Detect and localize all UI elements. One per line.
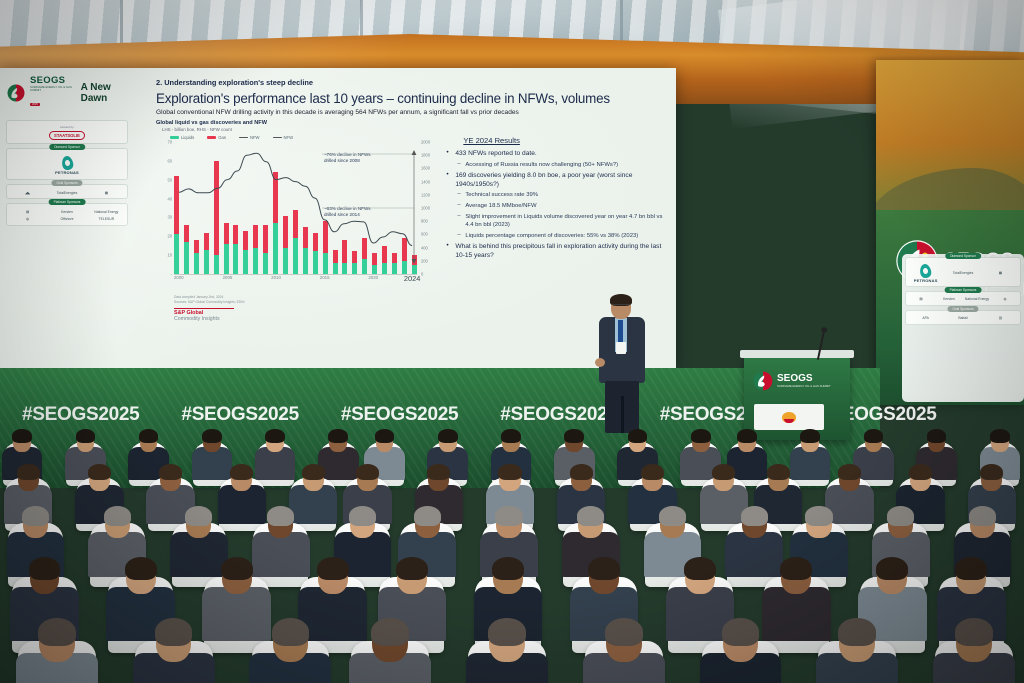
audience-hair <box>741 506 768 526</box>
audience-hair <box>88 464 111 480</box>
platinum-sponsor-label: Platinum Sponsors <box>49 199 86 205</box>
audience-hair <box>104 506 131 526</box>
audience-hair <box>780 557 812 580</box>
results-title: YE 2024 Results <box>463 136 672 145</box>
x-tick: 2024 <box>404 274 420 283</box>
audience-member <box>133 620 215 683</box>
y-tick-left: 60 <box>167 158 172 163</box>
audience-hair <box>712 464 735 480</box>
audience-hair <box>38 618 76 646</box>
audience-hair <box>267 506 294 526</box>
audience-hair <box>969 506 996 526</box>
audience-hair <box>221 557 253 580</box>
audience-hair <box>76 429 96 443</box>
audience-hair <box>909 464 932 480</box>
audience-member <box>933 620 1015 683</box>
chart-x-axis: 200020052010201520202024 <box>174 275 417 289</box>
audience-member <box>249 620 331 683</box>
gold-sponsor-box: Gold Sponsors ◢◣ TotalEnergies ▦ <box>6 184 128 200</box>
sp-global-brand: S&P Global Commodity Insights <box>174 308 234 322</box>
chart-footnote: Data compiled January 2nd, 2024 Sources:… <box>174 295 439 304</box>
audience-hair <box>29 557 61 580</box>
sponsor-logo-offshore: Offshore <box>48 218 85 222</box>
audience-hair <box>838 464 861 480</box>
audience-hair <box>488 618 526 646</box>
audience-member <box>816 620 898 683</box>
y-tick-right: 2000 <box>421 140 430 145</box>
y-tick-right: 1200 <box>421 192 430 197</box>
audience-hair <box>22 506 49 526</box>
audience-hair <box>498 464 521 480</box>
glasses-icon <box>612 304 630 309</box>
result-bullet: 433 NFWs reported to date. <box>445 150 672 159</box>
slide-kicker: 2. Understanding exploration's steep dec… <box>156 78 672 87</box>
sponsor-logo-baitali: Baitali <box>945 317 980 321</box>
event-tagline: A New Dawn <box>81 82 128 104</box>
chart-heading: Global liquid vs gas discoveries and NFW <box>156 120 672 126</box>
audience-hair <box>887 506 914 526</box>
audience-hair <box>722 618 760 646</box>
platinum-sponsor-box: Platinum Sponsors ▤ Kersten National Ene… <box>6 203 128 225</box>
audience-hair <box>202 429 222 443</box>
audience <box>0 400 1024 683</box>
sponsor-logo-telesur: TELESUR <box>88 218 125 222</box>
y-tick-right: 600 <box>421 232 428 237</box>
banner-sponsor-card: Diamond Sponsor PETRONAS TotalEnergies ▦… <box>902 254 1024 402</box>
y-tick-right: 1600 <box>421 166 430 171</box>
legend-item-gas: Gas <box>207 135 226 140</box>
audience-member <box>466 620 548 683</box>
y-tick-right: 1400 <box>421 179 430 184</box>
projection-screen: SEOGS SURINAME ENERGY OIL & GAS SUMMIT 2… <box>0 68 676 368</box>
sponsor-logo-g3: ▥ <box>983 317 1018 321</box>
sponsor-logo-plat-d: ◍ <box>9 218 46 222</box>
chart-column: Liquids Gas NFW NFW <box>156 132 439 322</box>
result-subbullets: Technical success rate 39%Average 18.5 M… <box>445 192 672 240</box>
audience-hair <box>767 464 790 480</box>
platinum-label: Platinum Sponsors <box>945 287 982 293</box>
diamond-sponsor-label: Diamond Sponsor <box>49 144 85 150</box>
audience-hair <box>570 464 593 480</box>
host-sponsor-box: Hosted by STAATSOLIE <box>6 120 128 144</box>
audience-hair <box>438 429 458 443</box>
audience-hair <box>492 557 524 580</box>
legend-swatch-gas <box>207 136 216 139</box>
audience-hair <box>495 506 522 526</box>
audience-hair <box>328 429 348 443</box>
sponsor-logo-gold-2: ▦ <box>983 272 1018 276</box>
audience-hair <box>265 429 285 443</box>
result-subbullet: Slight improvement in Liquids volume dis… <box>457 214 672 230</box>
chart-legend: Liquids Gas NFW NFW <box>170 135 439 140</box>
audience-member <box>16 620 98 683</box>
y-tick-right: 1000 <box>421 206 430 211</box>
audience-hair <box>805 506 832 526</box>
y-tick-left: 40 <box>167 196 172 201</box>
x-tick: 2005 <box>223 275 233 280</box>
sponsor-logo-kersten: Kersten <box>48 211 85 215</box>
result-subbullets: Accessing of Russia results now challeng… <box>445 162 672 170</box>
audience-hair <box>427 464 450 480</box>
audience-hair <box>628 429 648 443</box>
audience-member <box>583 620 665 683</box>
chart-plot: ~76% decline in NFWs drilled since 2008 … <box>174 142 417 275</box>
result-subbullet: Accessing of Russia results now challeng… <box>457 162 672 170</box>
x-tick: 2000 <box>174 275 184 280</box>
y-tick-right: 800 <box>421 219 428 224</box>
audience-hair <box>230 464 253 480</box>
audience-hair <box>588 557 620 580</box>
slide-sponsor-rail: SEOGS SURINAME ENERGY OIL & GAS SUMMIT 2… <box>6 76 128 352</box>
sponsor-logo-national-energy: National Energy <box>88 211 125 215</box>
podium-brand: SEOGS <box>777 374 831 384</box>
result-bullet: What is behind this precipitous fall in … <box>445 243 672 260</box>
sponsor-logo-petronas: PETRONAS <box>908 264 943 283</box>
results-bullets: 433 NFWs reported to date.Accessing of R… <box>445 150 672 261</box>
audience-hair <box>990 429 1010 443</box>
results-column: YE 2024 Results 433 NFWs reported to dat… <box>439 132 672 322</box>
audience-hair <box>980 464 1003 480</box>
audience-hair <box>125 557 157 580</box>
audience-hair <box>349 506 376 526</box>
sponsor-logo-p1: ▤ <box>908 298 934 302</box>
audience-member <box>700 620 782 683</box>
audience-hair <box>317 557 349 580</box>
y-tick-left: 50 <box>167 177 172 182</box>
chart-y-axis-right: 0200400600800100012001400160018002000 <box>419 142 439 274</box>
audience-hair <box>356 464 379 480</box>
podium-top <box>740 350 854 358</box>
y-tick-left: 30 <box>167 215 172 220</box>
chart-plot-area: -10203040506070 020040060080010001200140… <box>156 142 439 292</box>
gold-label: Gold Sponsors <box>947 306 978 312</box>
audience-hair <box>577 506 604 526</box>
audience-hair <box>864 429 884 443</box>
audience-hair <box>659 506 686 526</box>
result-subbullet: Liquids percentage component of discover… <box>457 233 672 241</box>
legend-item-nfw-2: NFW <box>273 135 294 140</box>
legend-item-nfw: NFW <box>239 135 260 140</box>
sponsor-logo-petronas: PETRONAS <box>9 156 125 175</box>
podium-subtitle: SURINAME ENERGY OIL & GAS SUMMIT <box>777 384 831 388</box>
chart-annotation-arrows <box>318 150 418 272</box>
slide-content: 2. Understanding exploration's steep dec… <box>134 76 672 362</box>
audience-hair <box>501 429 521 443</box>
sponsor-logo-natenergy: National Energy <box>964 298 990 302</box>
x-tick: 2010 <box>271 275 281 280</box>
sponsor-logo-p4: ◍ <box>992 298 1018 302</box>
seogs-edition: 2025 <box>30 103 40 106</box>
speaker-lanyard <box>618 320 623 344</box>
y-tick-right: 0 <box>421 272 423 277</box>
sponsor-logo-staatsolie: STAATSOLIE <box>49 131 85 140</box>
sponsor-logo-totalenergies: TotalEnergies <box>48 192 85 196</box>
hosted-by-caption: Hosted by <box>9 125 125 129</box>
seogs-subtitle: SURINAME ENERGY OIL & GAS SUMMIT <box>30 86 73 93</box>
audience-hair <box>838 618 876 646</box>
seogs-header: SEOGS SURINAME ENERGY OIL & GAS SUMMIT 2… <box>6 76 128 110</box>
audience-hair <box>737 429 757 443</box>
diamond-sponsor-box: Diamond Sponsor PETRONAS <box>6 148 128 179</box>
y-tick-left: 20 <box>167 234 172 239</box>
audience-hair <box>414 506 441 526</box>
legend-swatch-nfw-2 <box>273 137 282 138</box>
audience-hair <box>641 464 664 480</box>
audience-hair <box>684 557 716 580</box>
audience-hair <box>605 618 643 646</box>
seogs-logo-icon <box>6 83 26 103</box>
audience-hair <box>396 557 428 580</box>
sponsor-logo-gold-1: TotalEnergies <box>945 272 980 276</box>
audience-hair <box>800 429 820 443</box>
diamond-label: Diamond Sponsor <box>945 253 981 259</box>
audience-hair <box>564 429 584 443</box>
sponsor-logo-kersten: Kersten <box>936 298 962 302</box>
result-bullet: 169 discoveries yielding 8.0 bn boe, a p… <box>445 172 672 189</box>
y-tick-left: - <box>171 272 172 277</box>
audience-hair <box>185 506 212 526</box>
audience-hair <box>691 429 711 443</box>
sponsor-logo-gold-c: ▦ <box>88 192 125 196</box>
audience-hair <box>159 464 182 480</box>
audience-hair <box>955 618 993 646</box>
audience-hair <box>272 618 310 646</box>
petronas-drop-icon <box>60 155 73 171</box>
petronas-drop-icon <box>919 263 932 279</box>
audience-member <box>349 620 431 683</box>
conference-photo: SEOGS 17-20 JUNE 2025 Paramaribo, Surina… <box>0 0 1024 683</box>
audience-hair <box>371 618 409 646</box>
result-subbullet: Technical success rate 39% <box>457 192 672 200</box>
y-tick-right: 1800 <box>421 153 430 158</box>
podium-logo: SEOGS SURINAME ENERGY OIL & GAS SUMMIT <box>752 370 831 392</box>
audience-hair <box>955 557 987 580</box>
slide-subtitle: Global conventional NFW drilling activit… <box>156 109 672 116</box>
chart-y-axis-left: -10203040506070 <box>156 142 172 274</box>
audience-hair <box>302 464 325 480</box>
y-tick-left: 70 <box>167 140 172 145</box>
speaker-hand <box>595 358 605 367</box>
audience-hair <box>927 429 947 443</box>
sponsor-logo-plat-a: ▤ <box>9 211 46 215</box>
x-tick: 2020 <box>368 275 378 280</box>
audience-hair <box>876 557 908 580</box>
result-subbullet: Average 18.5 MMboe/NFW <box>457 203 672 211</box>
audience-hair <box>17 464 40 480</box>
y-tick-left: 10 <box>167 253 172 258</box>
slide-title: Exploration's performance last 10 years … <box>156 91 672 106</box>
audience-hair <box>12 429 32 443</box>
audience-hair <box>139 429 159 443</box>
audience-hair <box>155 618 193 646</box>
y-tick-right: 400 <box>421 245 428 250</box>
gold-sponsor-label: Gold Sponsors <box>51 180 82 186</box>
legend-item-liquids: Liquids <box>170 135 194 140</box>
x-tick: 2015 <box>320 275 330 280</box>
sponsor-logo-apa: APA <box>908 317 943 321</box>
y-tick-right: 200 <box>421 258 428 263</box>
seogs-logo-icon <box>752 370 774 392</box>
legend-swatch-nfw <box>239 137 248 138</box>
audience-hair <box>375 429 395 443</box>
speaker-badge <box>616 342 626 354</box>
sponsor-logo-gold-a: ◢◣ <box>9 192 46 196</box>
